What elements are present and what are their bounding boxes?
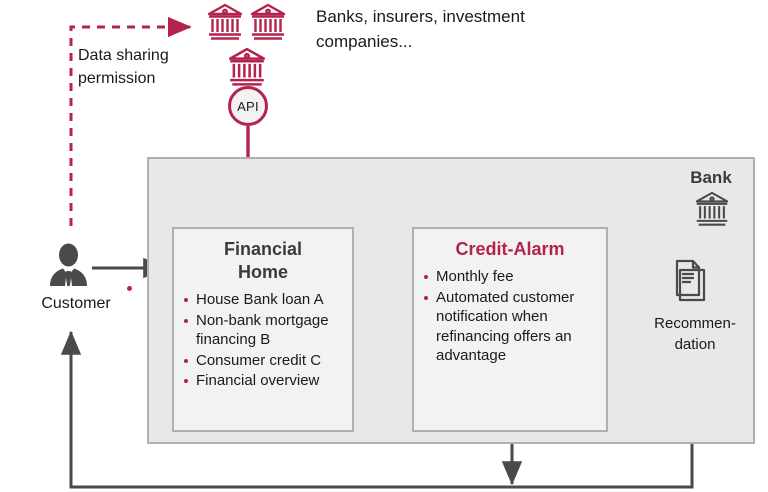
customer-label: Customer	[26, 295, 126, 313]
list-item: Non-bank mortgage financing B	[182, 311, 346, 350]
financial-home-box[interactable]: Financial Home House Bank loan A Non-ban…	[172, 227, 354, 432]
financial-home-title-line-2: Home	[174, 261, 352, 284]
person-icon	[45, 242, 92, 289]
banks-caption: Banks, insurers, investment companies...	[316, 4, 586, 54]
bank-icon	[206, 2, 244, 42]
documents-icon	[664, 258, 714, 305]
bank-panel-label: Bank	[676, 168, 746, 188]
api-node[interactable]: API	[228, 86, 268, 126]
list-item: Consumer credit C	[182, 351, 346, 371]
recommendation-label-line-2: dation	[640, 334, 750, 355]
list-item: Automated customer notification when ref…	[422, 288, 600, 366]
credit-alarm-box[interactable]: Credit-Alarm Monthly fee Automated custo…	[412, 227, 608, 432]
list-item: House Bank loan A	[182, 290, 346, 310]
financial-home-list: House Bank loan A Non-bank mortgage fina…	[174, 290, 352, 391]
recommendation-label: Recommen- dation	[640, 313, 750, 355]
diagram-canvas: API Banks, insurers, investment companie…	[0, 0, 768, 492]
accent-dot	[127, 286, 132, 291]
list-item: Monthly fee	[422, 267, 600, 287]
list-item: Financial overview	[182, 371, 346, 391]
data-sharing-permission-label: Data sharing permission	[78, 44, 198, 90]
bank-icon	[227, 46, 267, 88]
financial-home-title-line-1: Financial	[174, 238, 352, 261]
bank-icon	[692, 190, 732, 228]
recommendation-label-line-1: Recommen-	[640, 313, 750, 334]
credit-alarm-list: Monthly fee Automated customer notificat…	[414, 267, 606, 366]
api-label: API	[237, 99, 259, 114]
credit-alarm-title: Credit-Alarm	[414, 229, 606, 261]
financial-home-title: Financial Home	[174, 229, 352, 284]
bank-icon	[249, 2, 287, 42]
